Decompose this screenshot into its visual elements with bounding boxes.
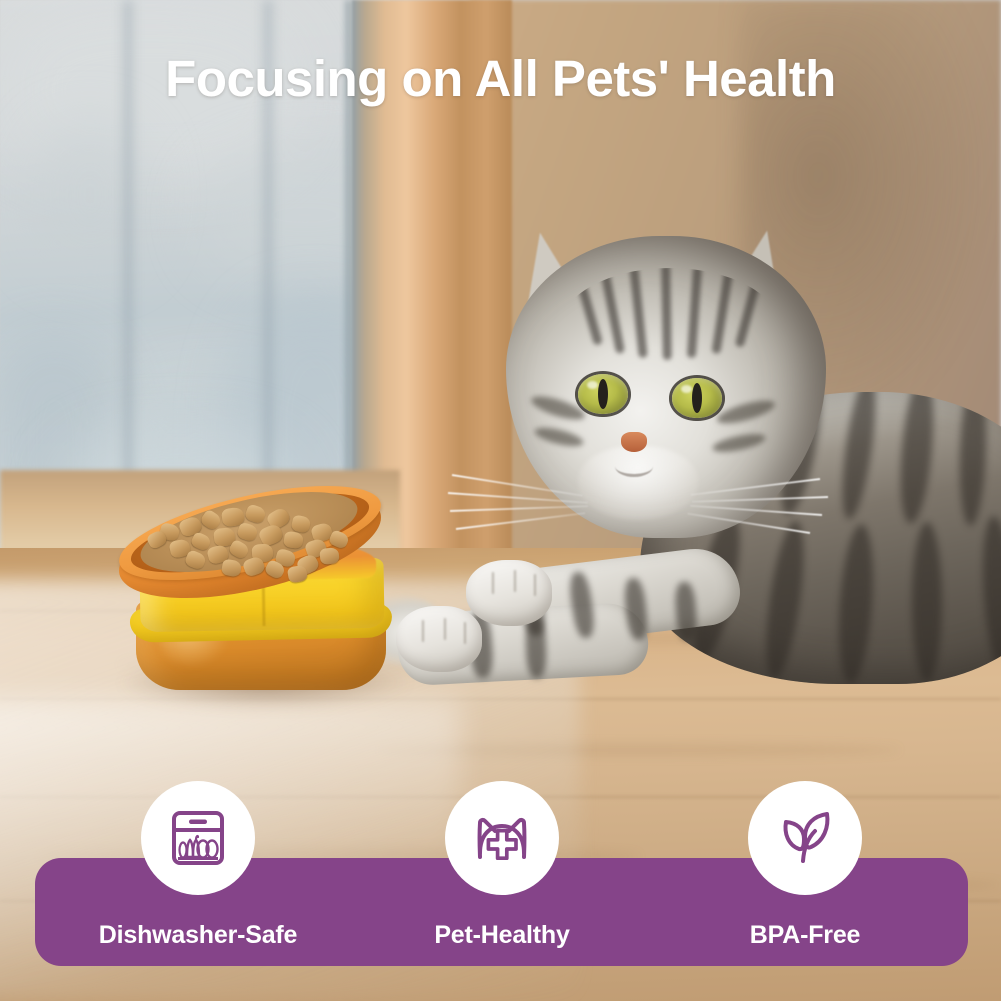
cat-forehead-stripes [560, 268, 780, 388]
leaf-sprout-icon [774, 807, 836, 869]
feature-label-bpa-free: BPA-Free [675, 921, 935, 950]
cat-leg-stripe [525, 616, 547, 679]
cat-mouth [615, 456, 653, 477]
feature-icon-circle-bpa-free[interactable] [748, 781, 862, 895]
cat-eye-left [578, 374, 628, 414]
cat-paw [396, 606, 482, 672]
cat-paw [466, 560, 552, 626]
cat-nose [621, 432, 647, 452]
feature-label-dishwasher-safe: Dishwasher-Safe [68, 921, 328, 950]
product-marketing-image: Focusing on All Pets' Health Dishwasher-… [0, 0, 1001, 1001]
dishwasher-icon [167, 807, 229, 869]
page-title: Focusing on All Pets' Health [0, 50, 1001, 109]
feature-icon-circle-pet-healthy[interactable] [445, 781, 559, 895]
feature-icon-circle-dishwasher-safe[interactable] [141, 781, 255, 895]
cat-eye-right [672, 378, 722, 418]
feature-label-pet-healthy: Pet-Healthy [372, 921, 632, 950]
cat-head-medical-cross-icon [470, 809, 534, 867]
cat-whisker [456, 512, 585, 530]
cat-whisker [450, 505, 588, 512]
